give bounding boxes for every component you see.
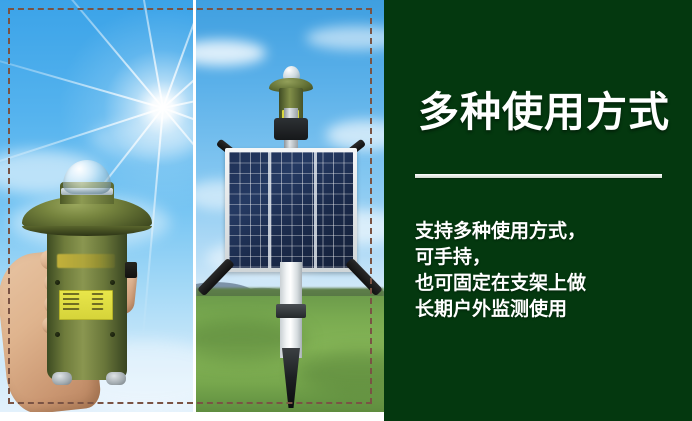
label-text-line	[63, 293, 109, 295]
pole-clamp	[276, 304, 306, 318]
cloud-shape	[90, 120, 193, 156]
description-line-4: 长期户外监测使用	[415, 297, 683, 323]
connector-port	[125, 262, 137, 278]
panel-busbar	[268, 152, 271, 268]
banner-root: 多种使用方式 支持多种使用方式， 可手持， 也可固定在支架上做 长期户外监测使用	[0, 0, 692, 421]
sun-ray	[14, 0, 163, 109]
sun-ray	[162, 0, 193, 108]
photo-collage	[0, 0, 384, 412]
device-foot	[106, 372, 126, 385]
title-divider	[415, 174, 662, 178]
photo-solar-mount	[196, 0, 384, 412]
cloud-shape	[306, 26, 384, 50]
description-line-2: 可手持，	[415, 245, 683, 271]
sun-ray	[122, 0, 164, 108]
photo-divider	[193, 0, 196, 412]
description-block: 支持多种使用方式， 可手持， 也可固定在支架上做 长期户外监测使用	[415, 219, 683, 323]
screw	[110, 332, 115, 337]
screw	[55, 280, 60, 285]
solar-cells	[229, 152, 353, 268]
sun-ray	[162, 0, 193, 109]
label-text-line	[63, 303, 109, 305]
photo-handheld	[0, 0, 193, 412]
yellow-spec-label	[59, 290, 113, 320]
description-line-3: 也可固定在支架上做	[415, 271, 683, 297]
mast-bracket	[274, 118, 308, 140]
bottom-white-strip	[0, 412, 384, 421]
label-text-line	[63, 308, 109, 310]
device-foot	[52, 372, 72, 385]
sun-ray	[163, 76, 193, 109]
brand-logo	[57, 254, 115, 268]
cloud-shape	[196, 40, 266, 66]
screw	[110, 280, 115, 285]
solar-panel	[225, 148, 357, 272]
text-panel: 多种使用方式 支持多种使用方式， 可手持， 也可固定在支架上做 长期户外监测使用	[384, 0, 692, 421]
panel-busbar	[314, 152, 317, 268]
handheld-sensor-device	[47, 228, 127, 380]
sun-ray	[0, 44, 163, 109]
description-line-1: 支持多种使用方式，	[415, 219, 683, 245]
label-text-line	[63, 298, 109, 300]
screw	[55, 332, 60, 337]
page-title: 多种使用方式	[418, 90, 678, 136]
